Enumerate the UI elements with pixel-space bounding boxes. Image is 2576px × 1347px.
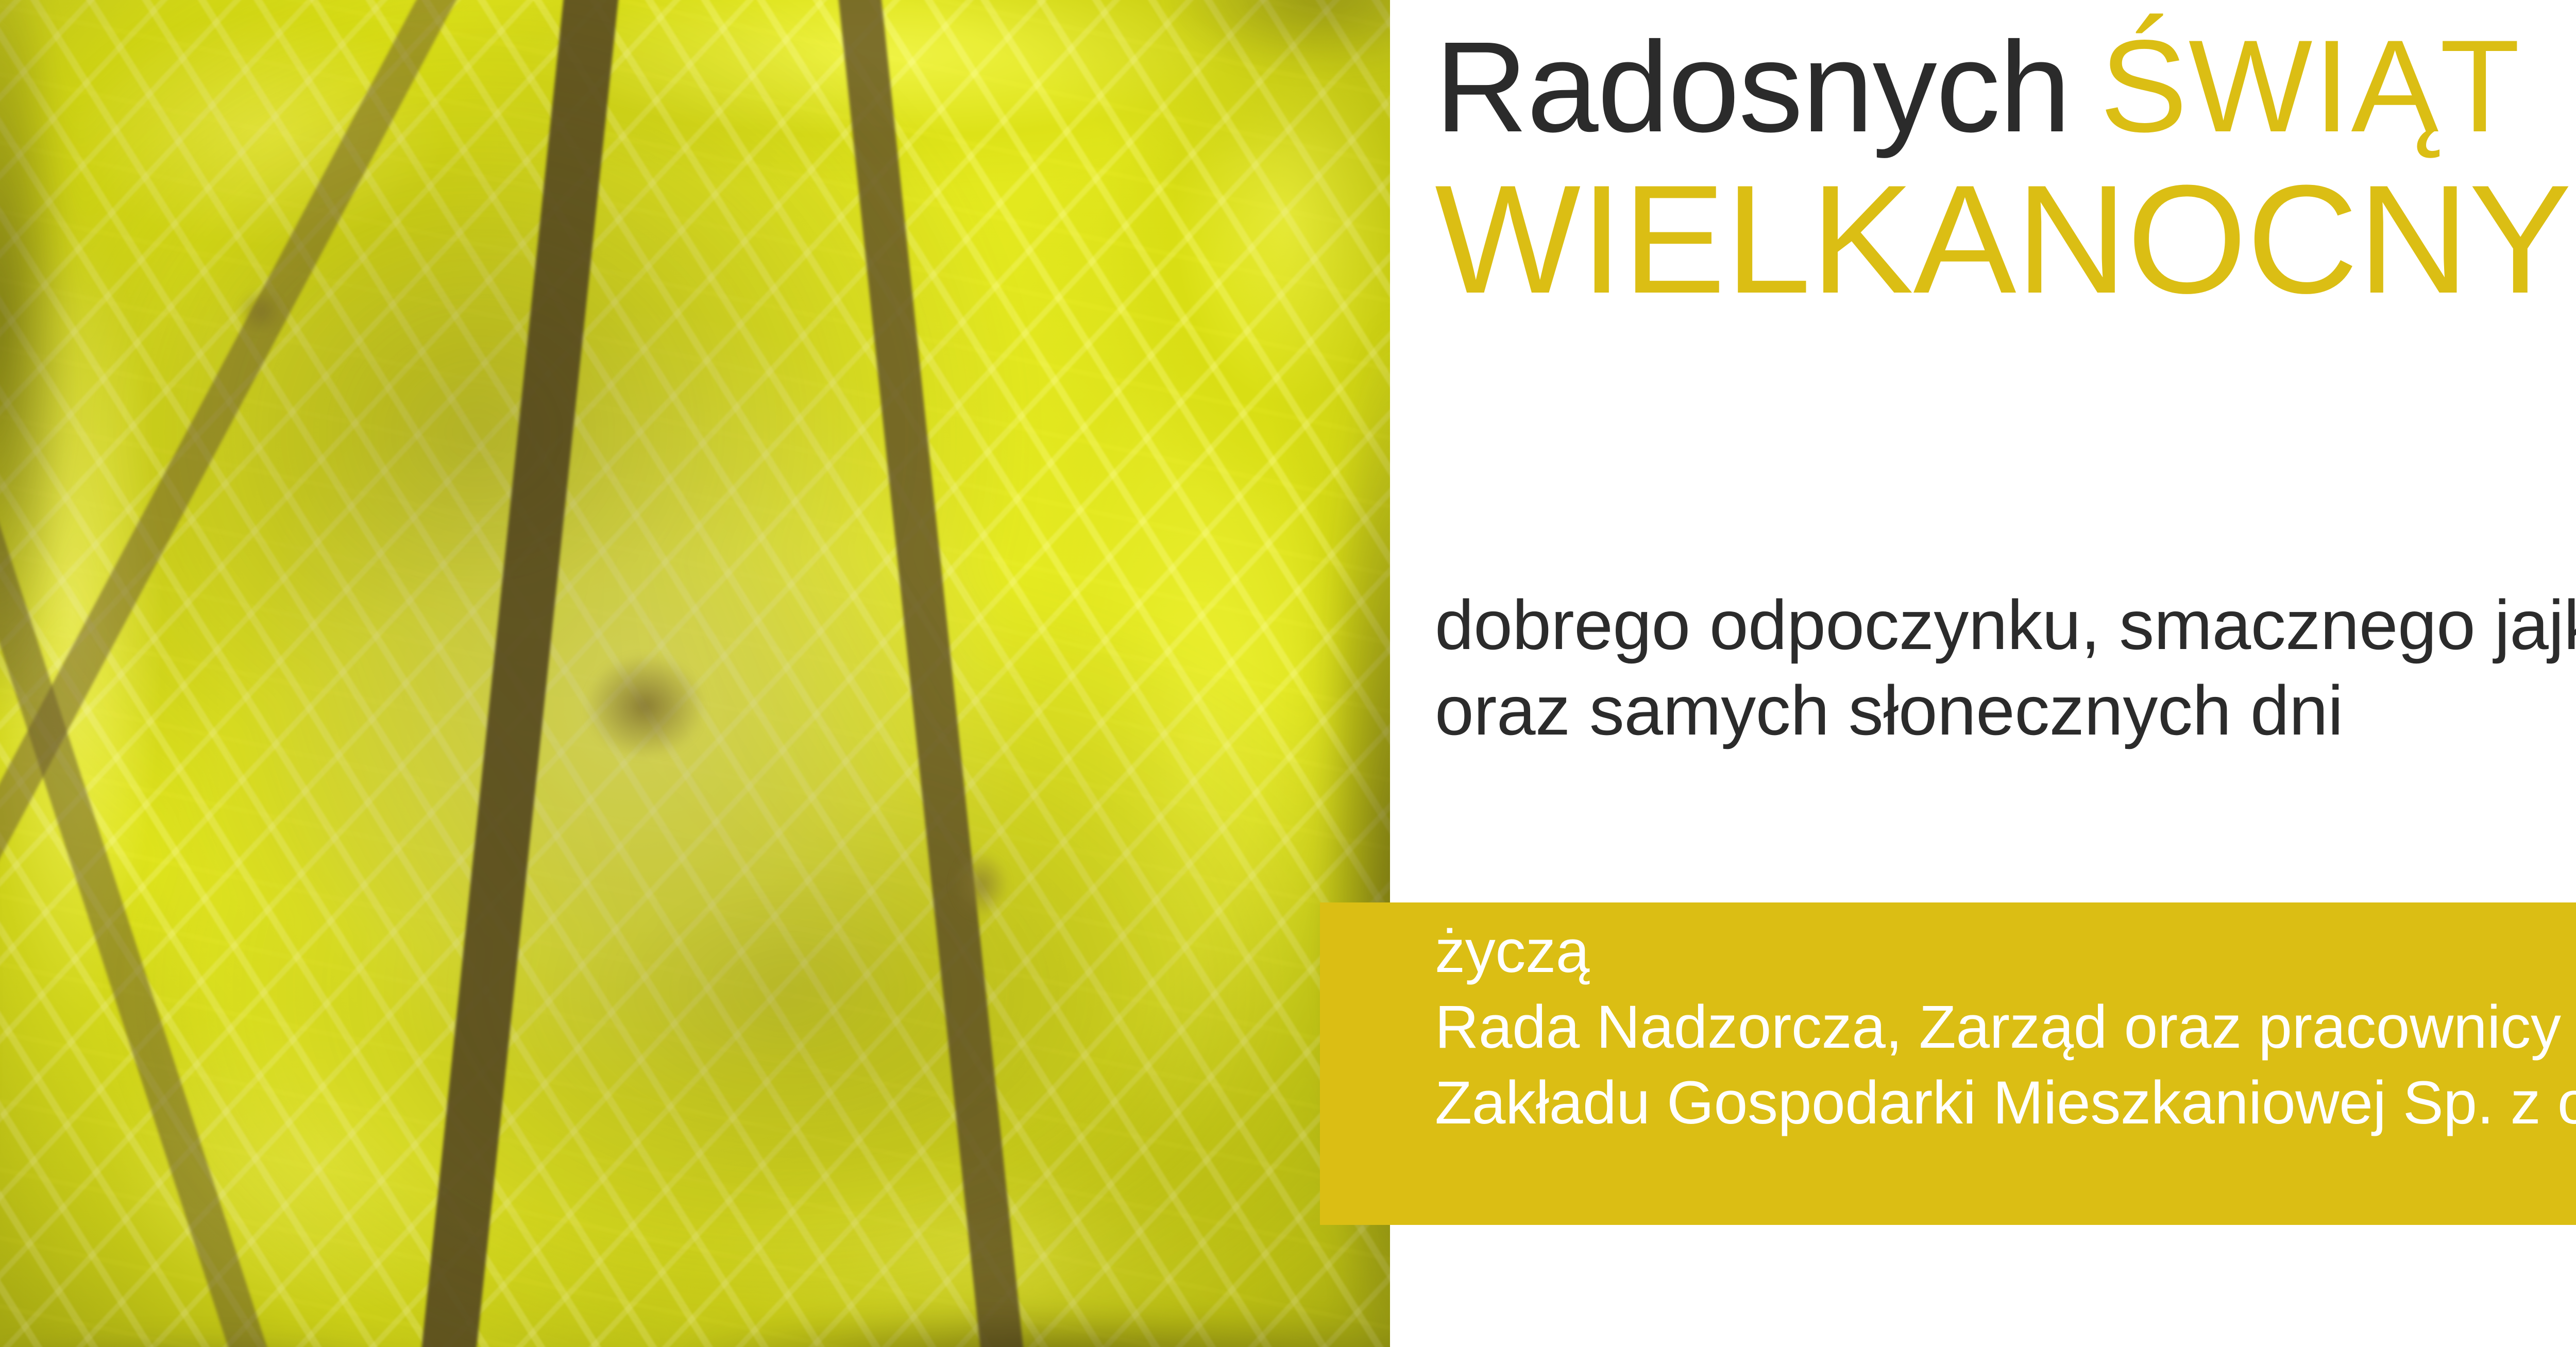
body-line-1: dobrego odpoczynku, smacznego jajka [1435,582,2576,668]
body-line-2: oraz samych słonecznych dni [1435,668,2576,753]
headline-line-1: Radosnych ŚWIĄT [1435,21,2576,152]
photo-vignette [0,0,1390,1347]
signature-line-company: Zakładu Gospodarki Mieszkaniowej Sp. z o… [1435,1065,2576,1141]
headline-word-swiat: ŚWIĄT [2100,21,2521,152]
headline-word-radosnych: Radosnych [1435,21,2070,152]
signature-block: życzą Rada Nadzorcza, Zarząd oraz pracow… [1435,914,2576,1141]
signature-line-board: Rada Nadzorcza, Zarząd oraz pracownicy [1435,990,2576,1065]
forsythia-photo [0,0,1390,1347]
signature-gold-panel: życzą Rada Nadzorcza, Zarząd oraz pracow… [1320,902,2576,1225]
headline-line-2-wielkanocnych: WIELKANOCNYCH [1435,162,2576,316]
greeting-headline: Radosnych ŚWIĄT WIELKANOCNYCH [1435,21,2576,316]
signature-line-wishes: życzą [1435,914,2576,990]
greeting-body-copy: dobrego odpoczynku, smacznego jajka oraz… [1435,582,2576,753]
easter-greeting-card: Radosnych ŚWIĄT WIELKANOCNYCH dobrego od… [0,0,2576,1347]
